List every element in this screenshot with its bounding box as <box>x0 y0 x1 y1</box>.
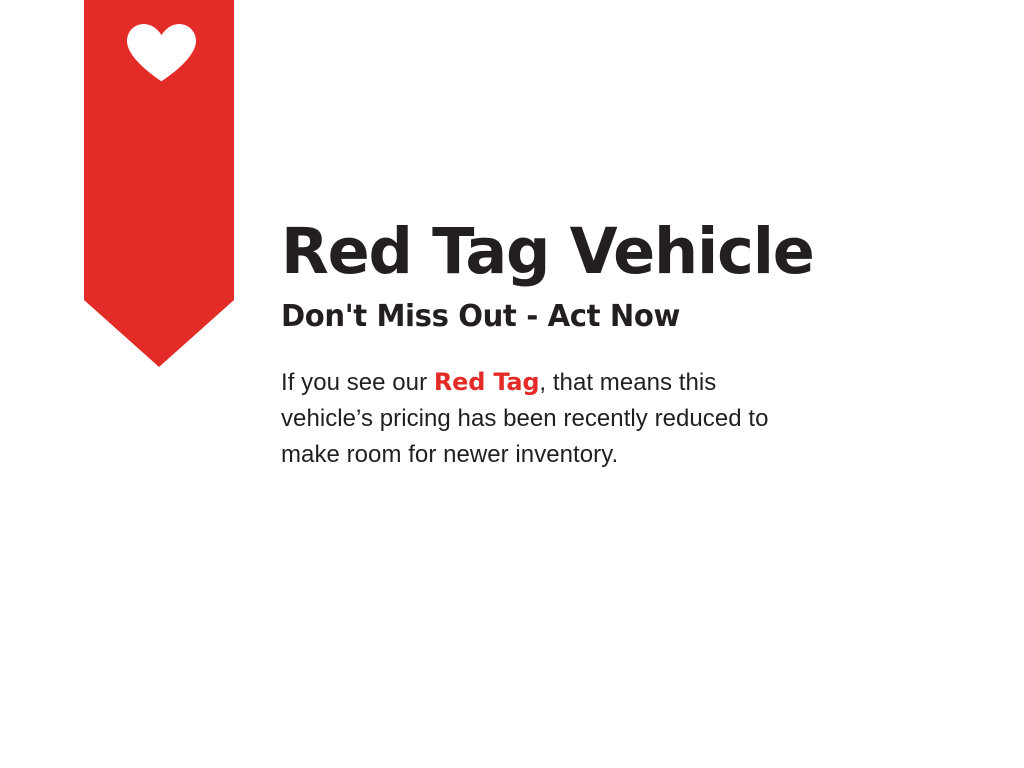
body-text-before-highlight: If you see our <box>281 369 434 396</box>
body-line-1: If you see our Red Tag, that means this <box>281 364 826 401</box>
red-tag-ribbon-badge <box>84 0 234 367</box>
red-tag-vehicle-slide: Red Tag Vehicle Don't Miss Out - Act Now… <box>0 0 1024 768</box>
body-line-2: vehicle’s pricing has been recently redu… <box>281 401 826 437</box>
page-subtitle: Don't Miss Out - Act Now <box>281 300 960 334</box>
content-block: Red Tag Vehicle Don't Miss Out - Act Now… <box>281 218 981 473</box>
page-title: Red Tag Vehicle <box>281 218 971 286</box>
red-tag-highlight: Red Tag <box>434 368 540 396</box>
body-line-3: make room for newer inventory. <box>281 437 826 473</box>
body-text-after-highlight: , that means this <box>539 369 716 396</box>
body-paragraph: If you see our Red Tag, that means this … <box>281 364 826 473</box>
